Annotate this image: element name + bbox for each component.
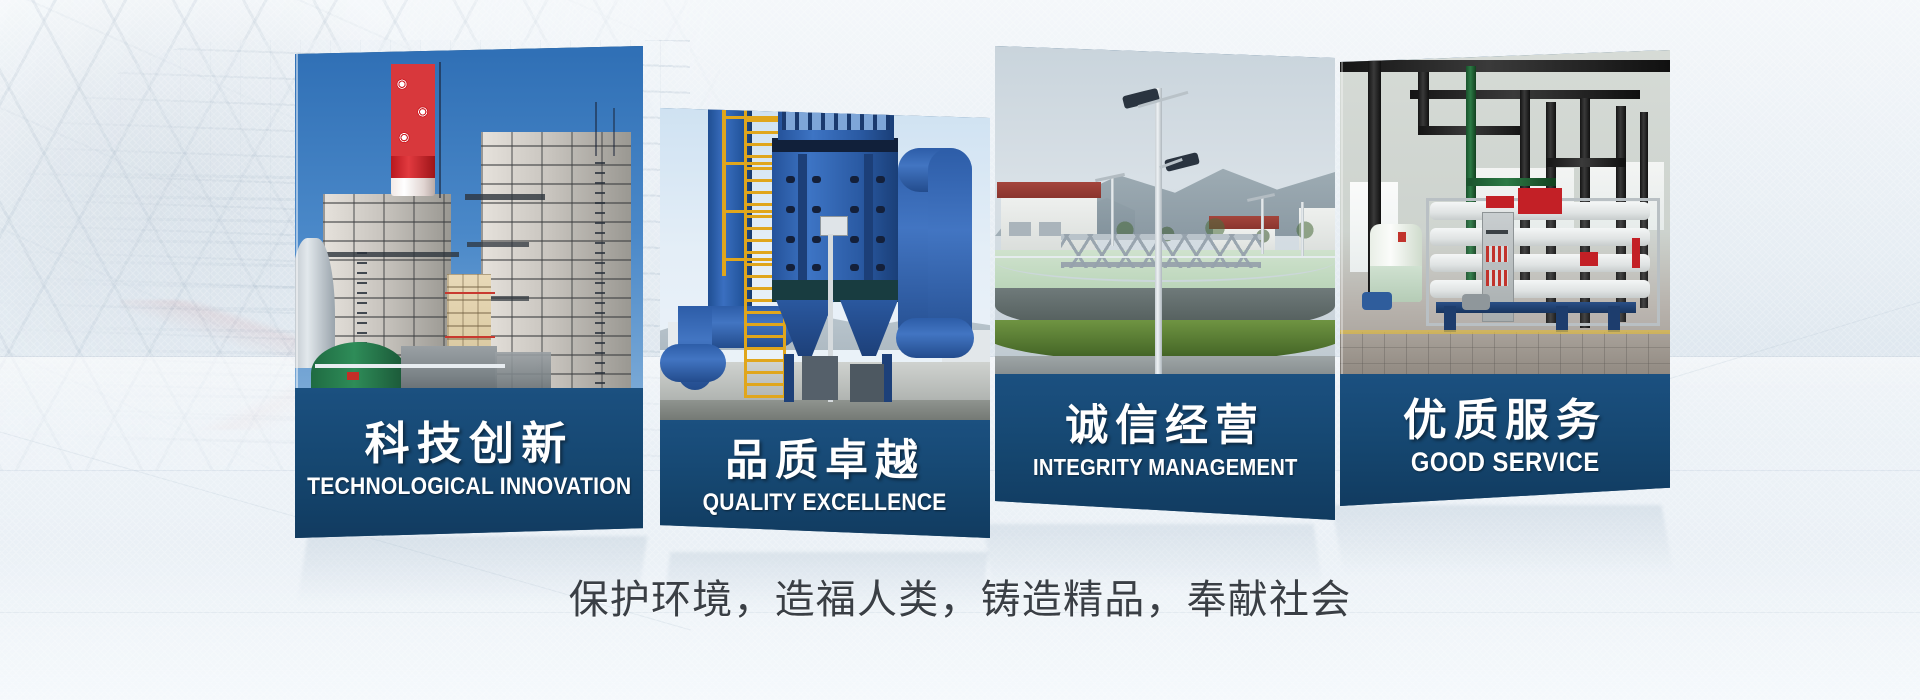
panel-1-photo	[295, 46, 643, 394]
panel-2-title-cn: 品质卓越	[725, 440, 925, 483]
panel-1-caption: 科技创新 TECHNOLOGICAL INNOVATION	[295, 388, 643, 538]
banner-stage: 科技创新 TECHNOLOGICAL INNOVATION	[0, 0, 1920, 700]
panel-3-title-en: INTEGRITY MANAGEMENT	[1033, 456, 1298, 479]
panel-4-photo	[1340, 50, 1670, 380]
panel-1-title-en: TECHNOLOGICAL INNOVATION	[307, 475, 631, 499]
panel-integrity-management[interactable]: 诚信经营 INTEGRITY MANAGEMENT	[995, 46, 1335, 520]
panel-4-caption: 优质服务 GOOD SERVICE	[1340, 374, 1670, 506]
panel-technological-innovation[interactable]: 科技创新 TECHNOLOGICAL INNOVATION	[295, 46, 643, 538]
panel-4-title-cn: 优质服务	[1403, 399, 1607, 443]
panel-3-title-cn: 诚信经营	[1065, 405, 1265, 448]
panel-quality-excellence[interactable]: 品质卓越 QUALITY EXCELLENCE	[660, 108, 990, 538]
panel-1-title-cn: 科技创新	[365, 421, 574, 466]
panel-3-caption: 诚信经营 INTEGRITY MANAGEMENT	[995, 374, 1335, 520]
banner-tagline: 保护环境，造福人类，铸造精品，奉献社会	[0, 567, 1920, 625]
panel-2-caption: 品质卓越 QUALITY EXCELLENCE	[660, 420, 990, 538]
panel-good-service[interactable]: 优质服务 GOOD SERVICE	[1340, 50, 1670, 506]
panel-2-photo	[660, 108, 990, 424]
panel-2-title-en: QUALITY EXCELLENCE	[703, 491, 947, 515]
panel-4-title-en: GOOD SERVICE	[1411, 449, 1600, 476]
panel-3-photo	[995, 46, 1335, 384]
